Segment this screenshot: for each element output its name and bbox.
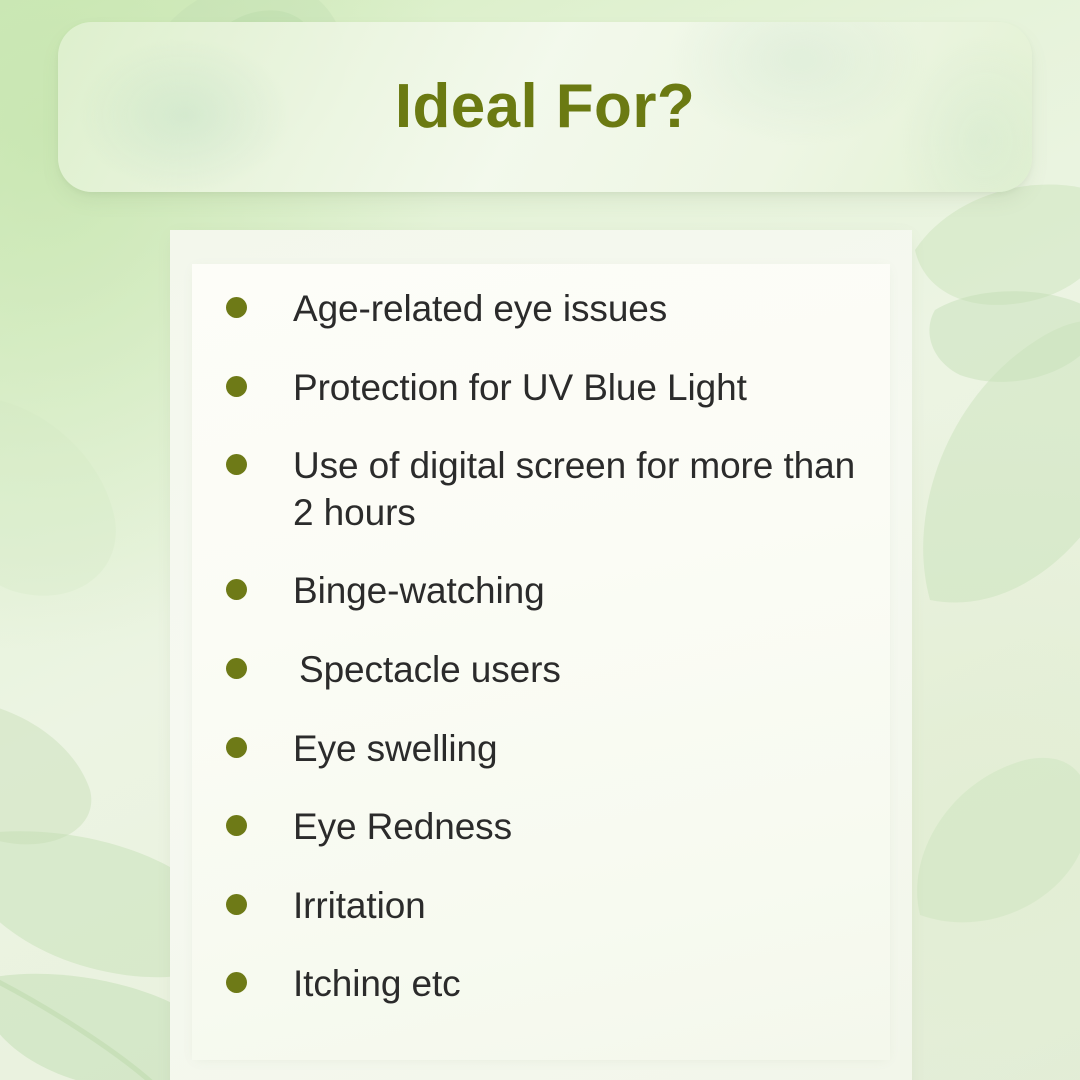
- list-item: Itching etc: [226, 961, 866, 1008]
- bullet-dot-icon: [226, 376, 247, 397]
- list-item: Binge-watching: [226, 568, 866, 615]
- leaf-icon: [905, 740, 1080, 940]
- leaf-icon: [0, 380, 140, 640]
- bullet-dot-icon: [226, 579, 247, 600]
- bullet-dot-icon: [226, 737, 247, 758]
- list-item-label: Spectacle users: [299, 647, 561, 694]
- list-item: Eye Redness: [226, 804, 866, 851]
- poster-canvas: Ideal For? Age-related eye issuesProtect…: [0, 0, 1080, 1080]
- page-title: Ideal For?: [395, 76, 695, 138]
- list-item-label: Eye Redness: [293, 804, 512, 851]
- list-item-label: Age-related eye issues: [293, 286, 667, 333]
- list-item-label: Eye swelling: [293, 726, 497, 773]
- leaf-icon: [905, 170, 1080, 470]
- bullet-dot-icon: [226, 815, 247, 836]
- list-item: Age-related eye issues: [226, 286, 866, 333]
- list-item-label: Use of digital screen for more than 2 ho…: [293, 443, 866, 536]
- leaf-icon: [0, 700, 110, 880]
- list-item-label: Irritation: [293, 883, 426, 930]
- bullet-dot-icon: [226, 454, 247, 475]
- list-item: Protection for UV Blue Light: [226, 365, 866, 412]
- list-item: Eye swelling: [226, 726, 866, 773]
- bullet-dot-icon: [226, 972, 247, 993]
- ideal-for-list: Age-related eye issuesProtection for UV …: [226, 286, 866, 1008]
- list-item: Spectacle users: [226, 647, 866, 694]
- bullet-dot-icon: [226, 658, 247, 679]
- list-item: Irritation: [226, 883, 866, 930]
- leaf-icon: [910, 300, 1080, 630]
- bullet-dot-icon: [226, 297, 247, 318]
- bullet-dot-icon: [226, 894, 247, 915]
- list-item-label: Itching etc: [293, 961, 461, 1008]
- list-item: Use of digital screen for more than 2 ho…: [226, 443, 866, 536]
- list-item-label: Binge-watching: [293, 568, 545, 615]
- list-item-label: Protection for UV Blue Light: [293, 365, 747, 412]
- title-banner: Ideal For?: [58, 22, 1032, 192]
